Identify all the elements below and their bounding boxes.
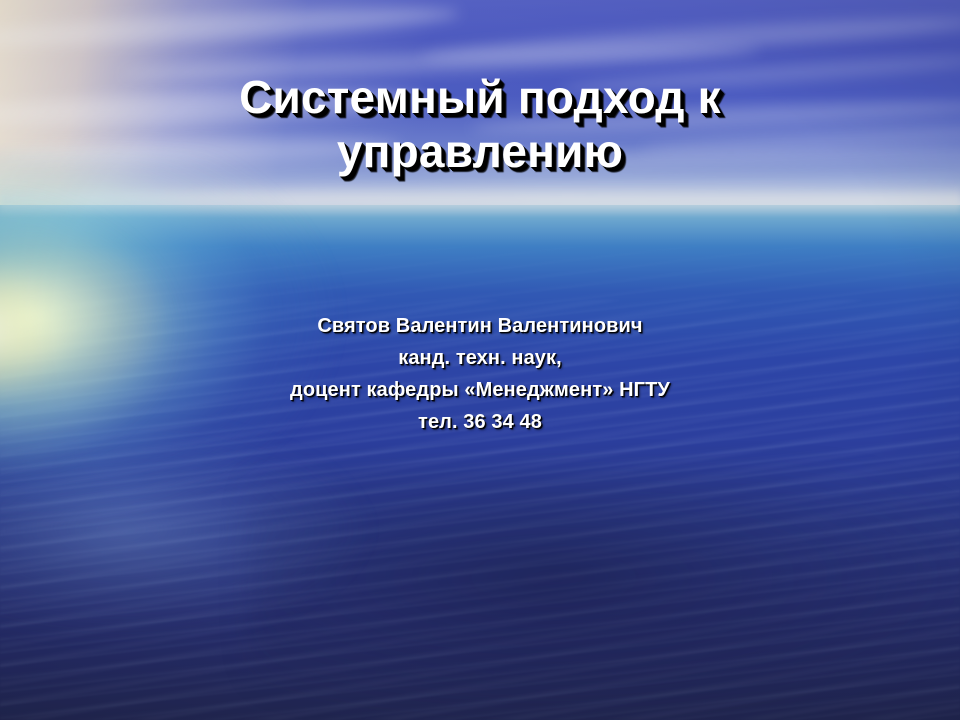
slide-content: Системный подход к управлению Святов Вал… (0, 0, 960, 720)
subtitle-affiliation: доцент кафедры «Менеджмент» НГТУ (100, 374, 860, 406)
slide-subtitle: Святов Валентин Валентинович канд. техн.… (100, 310, 860, 438)
subtitle-phone: тел. 36 34 48 (100, 406, 860, 438)
title-slide: Системный подход к управлению Святов Вал… (0, 0, 960, 720)
slide-title: Системный подход к управлению (60, 70, 900, 178)
title-line-1: Системный подход к (60, 70, 900, 124)
subtitle-degree: канд. техн. наук, (100, 342, 860, 374)
subtitle-author-name: Святов Валентин Валентинович (100, 310, 860, 342)
title-line-2: управлению (60, 124, 900, 178)
